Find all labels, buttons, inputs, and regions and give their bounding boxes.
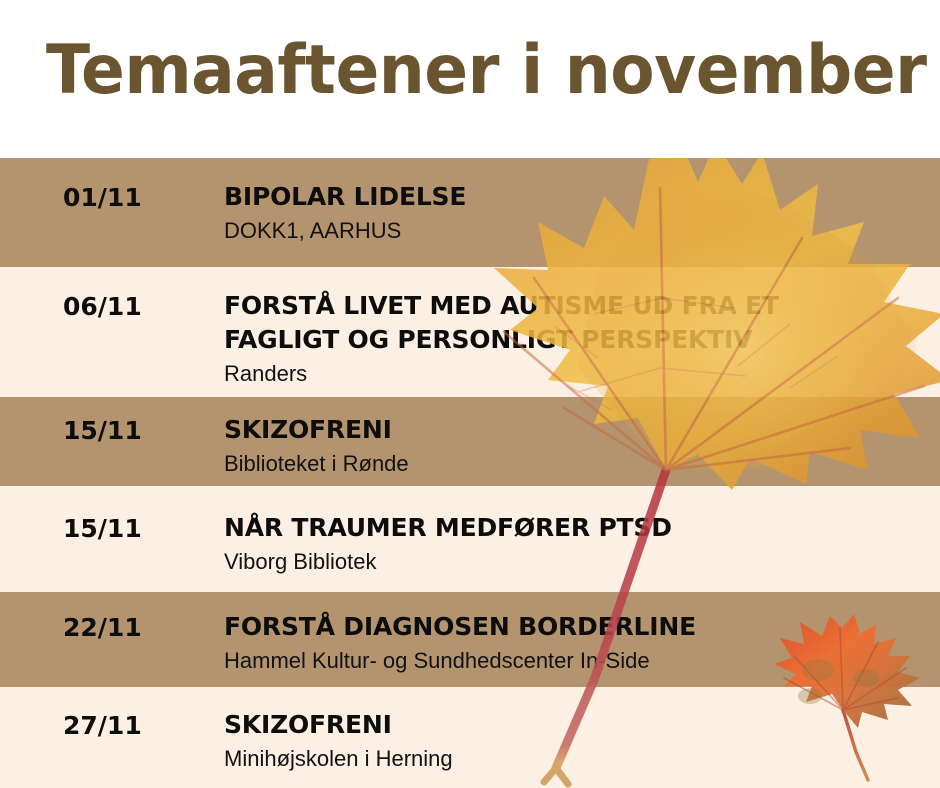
- event-body: NÅR TRAUMER MEDFØRER PTSD Viborg Bibliot…: [224, 511, 930, 577]
- event-title-line2: FAGLIGT OG PERSONLIGT PERSPEKTIV: [224, 323, 930, 357]
- table-row[interactable]: 22/11 FORSTÅ DIAGNOSEN BORDERLINE Hammel…: [0, 592, 940, 687]
- event-title: NÅR TRAUMER MEDFØRER PTSD: [224, 511, 930, 545]
- event-body: BIPOLAR LIDELSE DOKK1, AARHUS: [224, 180, 930, 246]
- event-title: SKIZOFRENI: [224, 413, 930, 447]
- table-row[interactable]: 15/11 NÅR TRAUMER MEDFØRER PTSD Viborg B…: [0, 486, 940, 592]
- table-row[interactable]: 06/11 FORSTÅ LIVET MED AUTISME UD FRA ET…: [0, 267, 940, 397]
- event-rows: 01/11 BIPOLAR LIDELSE DOKK1, AARHUS 06/1…: [0, 158, 940, 788]
- event-venue: Randers: [224, 359, 930, 389]
- event-date: 22/11: [63, 613, 142, 643]
- event-body: FORSTÅ DIAGNOSEN BORDERLINE Hammel Kultu…: [224, 610, 930, 676]
- event-body: FORSTÅ LIVET MED AUTISME UD FRA ET FAGLI…: [224, 289, 930, 389]
- event-date: 01/11: [63, 183, 142, 213]
- event-title: FORSTÅ DIAGNOSEN BORDERLINE: [224, 610, 930, 644]
- event-date: 27/11: [63, 711, 142, 741]
- event-venue: Biblioteket i Rønde: [224, 449, 930, 479]
- event-venue: Minihøjskolen i Herning: [224, 744, 930, 774]
- event-title: BIPOLAR LIDELSE: [224, 180, 930, 214]
- event-body: SKIZOFRENI Biblioteket i Rønde: [224, 413, 930, 479]
- table-row[interactable]: 01/11 BIPOLAR LIDELSE DOKK1, AARHUS: [0, 158, 940, 267]
- poster-canvas: 01/11 BIPOLAR LIDELSE DOKK1, AARHUS 06/1…: [0, 0, 940, 788]
- page-title: Temaaftener i november: [46, 30, 926, 112]
- table-row[interactable]: 27/11 SKIZOFRENI Minihøjskolen i Herning: [0, 687, 940, 788]
- table-row[interactable]: 15/11 SKIZOFRENI Biblioteket i Rønde: [0, 397, 940, 486]
- event-date: 15/11: [63, 514, 142, 544]
- event-title: SKIZOFRENI: [224, 708, 930, 742]
- event-venue: Viborg Bibliotek: [224, 547, 930, 577]
- event-date: 06/11: [63, 292, 142, 322]
- event-venue: DOKK1, AARHUS: [224, 216, 930, 246]
- title-bar: Temaaftener i november: [0, 0, 940, 158]
- event-title: FORSTÅ LIVET MED AUTISME UD FRA ET: [224, 289, 930, 323]
- event-body: SKIZOFRENI Minihøjskolen i Herning: [224, 708, 930, 774]
- event-venue: Hammel Kultur- og Sundhedscenter In-Side: [224, 646, 930, 676]
- event-date: 15/11: [63, 416, 142, 446]
